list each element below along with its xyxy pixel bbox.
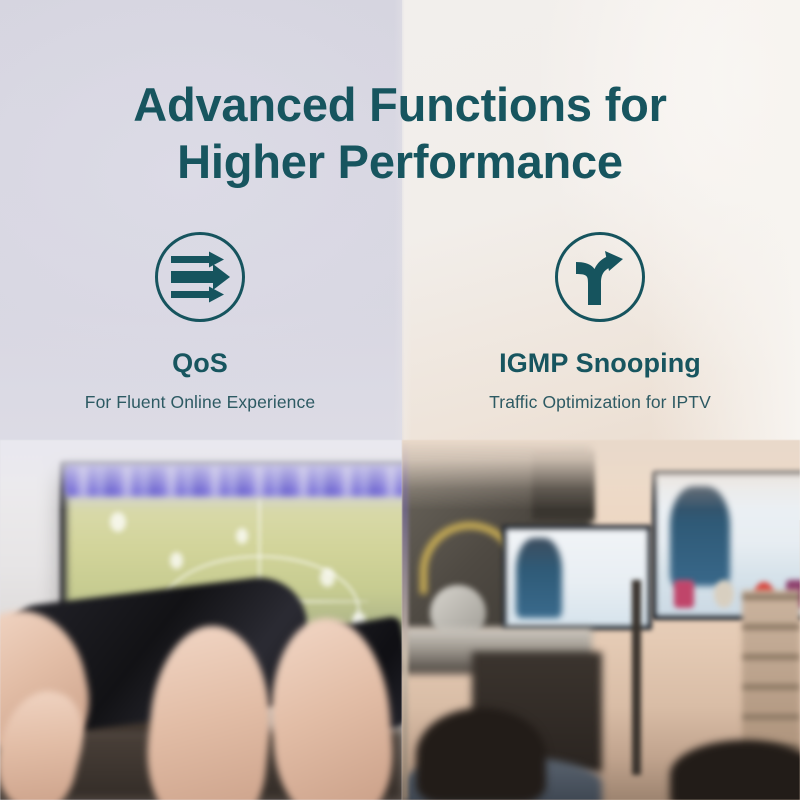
tv-showroom-photo [402,440,800,800]
feature-subtitle: For Fluent Online Experience [85,392,315,413]
promo-banner: Advanced Functions for Higher Performanc… [0,0,800,800]
feature-list: QoS For Fluent Online Experience IGMP Sn… [0,232,800,413]
three-arrows-icon [155,232,245,322]
feature-qos: QoS For Fluent Online Experience [0,232,400,413]
gaming-controller-tv-photo [0,440,402,800]
page-title-line-2: Higher Performance [0,133,800,190]
page-title: Advanced Functions for Higher Performanc… [0,76,800,190]
page-title-line-1: Advanced Functions for [0,76,800,133]
feature-title: QoS [172,348,228,379]
feature-title: IGMP Snooping [499,348,701,379]
feature-igmp-snooping: IGMP Snooping Traffic Optimization for I… [400,232,800,413]
feature-subtitle: Traffic Optimization for IPTV [489,392,711,413]
branching-arrow-icon [555,232,645,322]
